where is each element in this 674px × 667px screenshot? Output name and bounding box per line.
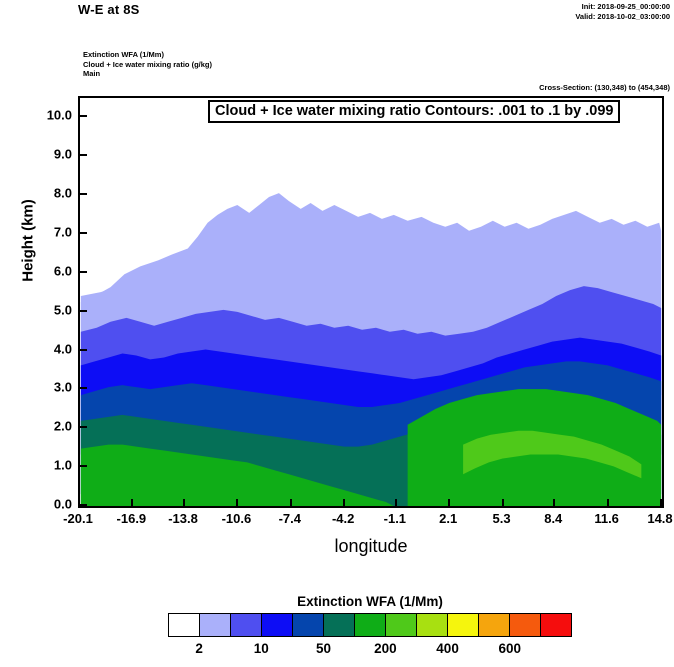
colorbar-cell (510, 614, 541, 636)
colorbar-tick-label: 2 (174, 641, 224, 656)
colorbar-cell (417, 614, 448, 636)
colorbar-tick-label: 400 (423, 641, 473, 656)
colorbar-tick-label: 600 (485, 641, 535, 656)
colorbar-cell (200, 614, 231, 636)
y-axis-tick-label: 2.0 (32, 419, 72, 434)
y-axis-tick-mark (78, 115, 87, 117)
field-line-contour: Cloud + Ice water mixing ratio (g/kg) (83, 60, 212, 70)
y-axis-tick-mark (78, 193, 87, 195)
x-axis-tick-label: -10.6 (206, 511, 266, 526)
y-axis-tick-mark (78, 426, 87, 428)
y-axis-tick-label: 10.0 (32, 108, 72, 123)
y-axis-tick-mark (78, 465, 87, 467)
colorbar-cell (262, 614, 293, 636)
x-axis-tick-mark (395, 499, 397, 508)
colorbar-tick-label: 10 (236, 641, 286, 656)
colorbar-cell (448, 614, 479, 636)
init-time-label: Init: 2018-09-25_00:00:00 (575, 2, 670, 12)
x-axis-tick-label: 2.1 (418, 511, 478, 526)
y-axis-tick-mark (78, 154, 87, 156)
model-run-times: Init: 2018-09-25_00:00:00 Valid: 2018-10… (575, 2, 670, 22)
y-axis-tick-mark (78, 387, 87, 389)
colorbar-cell (169, 614, 200, 636)
colorbar-swatches (168, 613, 572, 637)
x-axis-title: longitude (78, 536, 664, 557)
colorbar-tick-label: 50 (299, 641, 349, 656)
x-axis-tick-mark (290, 499, 292, 508)
valid-time-label: Valid: 2018-10-02_03:00:00 (575, 12, 670, 22)
y-axis-tick-mark (78, 349, 87, 351)
colorbar-tick-labels: 21050200400600 (168, 641, 572, 659)
y-axis-tick-mark (78, 232, 87, 234)
x-axis-tick-mark (553, 499, 555, 508)
x-axis-tick-mark (131, 499, 133, 508)
y-axis-tick-mark (78, 310, 87, 312)
y-axis-tick-label: 3.0 (32, 380, 72, 395)
colorbar-cell (386, 614, 417, 636)
y-axis-tick-label: 8.0 (32, 186, 72, 201)
cross-section-plot-area: .001.001.001 Cloud + Ice water mixing ra… (78, 96, 664, 508)
y-axis-tick-label: 6.0 (32, 263, 72, 278)
x-axis-tick-labels: -20.1-16.9-13.8-10.6-7.4-4.2-1.12.15.38.… (78, 511, 664, 527)
y-axis-tick-label: 0.0 (32, 497, 72, 512)
x-axis-tick-mark (660, 499, 662, 508)
y-axis-tick-label: 4.0 (32, 341, 72, 356)
field-line-domain: Main (83, 69, 212, 79)
colorbar-title: Extinction WFA (1/Mm) (168, 594, 572, 609)
extinction-field: .001.001.001 (80, 98, 662, 506)
colorbar-cell (231, 614, 262, 636)
y-axis-tick-label: 9.0 (32, 147, 72, 162)
x-axis-tick-mark (343, 499, 345, 508)
x-axis-tick-mark (502, 499, 504, 508)
x-axis-tick-label: -1.1 (365, 511, 425, 526)
contour-title-box: Cloud + Ice water mixing ratio Contours:… (208, 100, 620, 123)
y-axis-tick-label: 5.0 (32, 302, 72, 317)
colorbar-tick-label: 200 (360, 641, 410, 656)
x-axis-tick-label: -20.1 (48, 511, 108, 526)
colorbar-cell (355, 614, 386, 636)
colorbar-cell (324, 614, 355, 636)
y-axis-tick-label: 7.0 (32, 225, 72, 240)
x-axis-tick-mark (236, 499, 238, 508)
field-line-filled: Extinction WFA (1/Mm) (83, 50, 212, 60)
cross-section-coordinates: Cross-Section: (130,348) to (454,348) (539, 83, 670, 92)
x-axis-tick-mark (448, 499, 450, 508)
y-axis-tick-label: 1.0 (32, 458, 72, 473)
x-axis-tick-mark (183, 499, 185, 508)
x-axis-tick-label: 11.6 (577, 511, 637, 526)
x-axis-tick-mark (607, 499, 609, 508)
colorbar-cell (541, 614, 571, 636)
colorbar: Extinction WFA (1/Mm) 21050200400600 (168, 594, 572, 659)
y-axis-tick-mark (78, 271, 87, 273)
colorbar-cell (479, 614, 510, 636)
y-axis-tick-labels: 10.09.08.07.06.05.04.03.02.01.00.0 (28, 96, 72, 508)
x-axis-tick-mark (78, 499, 80, 508)
x-axis-tick-label: -13.8 (153, 511, 213, 526)
x-axis-tick-label: -7.4 (260, 511, 320, 526)
x-axis-tick-label: 14.8 (630, 511, 674, 526)
x-axis-tick-label: 8.4 (523, 511, 583, 526)
page-title: W-E at 8S (78, 2, 140, 17)
colorbar-cell (293, 614, 324, 636)
field-description: Extinction WFA (1/Mm) Cloud + Ice water … (83, 50, 212, 79)
